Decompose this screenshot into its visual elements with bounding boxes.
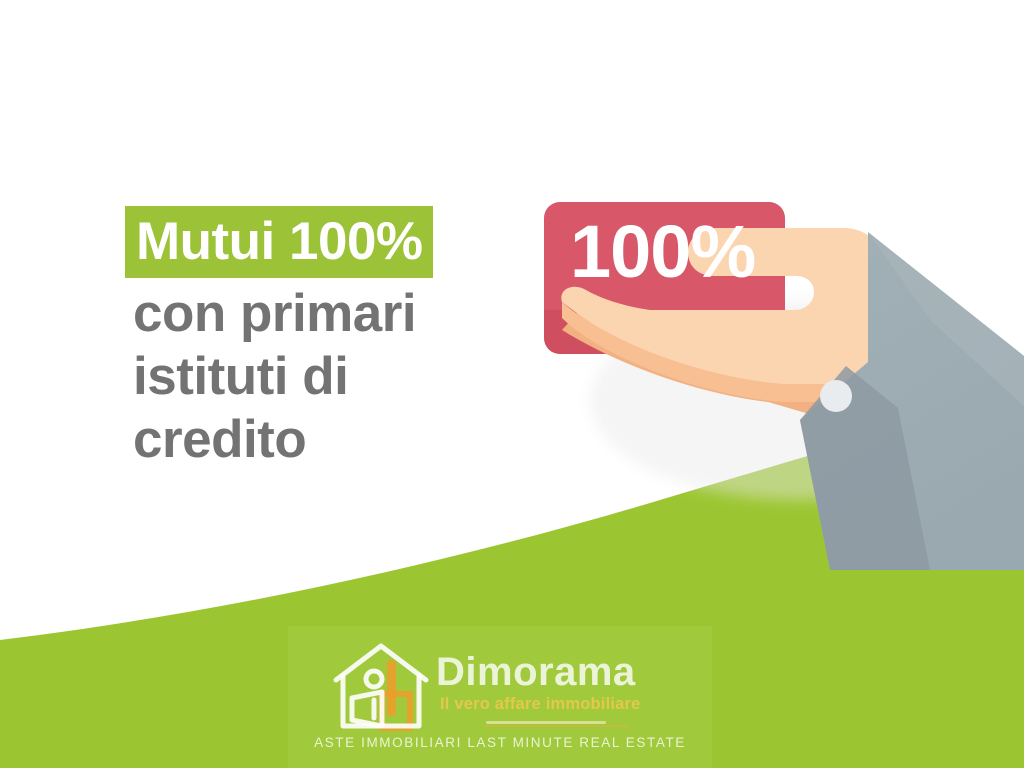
logo-wordmark: Dimorama bbox=[436, 650, 636, 694]
headline-line-4: credito bbox=[125, 413, 555, 466]
headline-line-3: istituti di bbox=[125, 350, 555, 403]
house-outline-icon bbox=[330, 642, 432, 734]
logo-divider-light bbox=[486, 721, 606, 724]
logo-subline: ASTE IMMOBILIARI LAST MINUTE REAL ESTATE bbox=[288, 734, 712, 752]
hand-holding-card-illustration bbox=[500, 170, 1024, 570]
sleeve-button-icon bbox=[820, 380, 852, 412]
headline-block: Mutui 100% con primari istituti di credi… bbox=[125, 206, 555, 469]
logo-divider-accent bbox=[484, 725, 629, 727]
headline-line-2: con primari bbox=[125, 287, 555, 340]
promo-banner: Mutui 100% con primari istituti di credi… bbox=[0, 0, 1024, 768]
logo-tagline: Il vero affare immobiliare bbox=[440, 694, 641, 714]
dimorama-logo[interactable]: Dimorama Il vero affare immobiliare ASTE… bbox=[288, 626, 712, 768]
headline-line-1: Mutui 100% bbox=[125, 206, 433, 278]
